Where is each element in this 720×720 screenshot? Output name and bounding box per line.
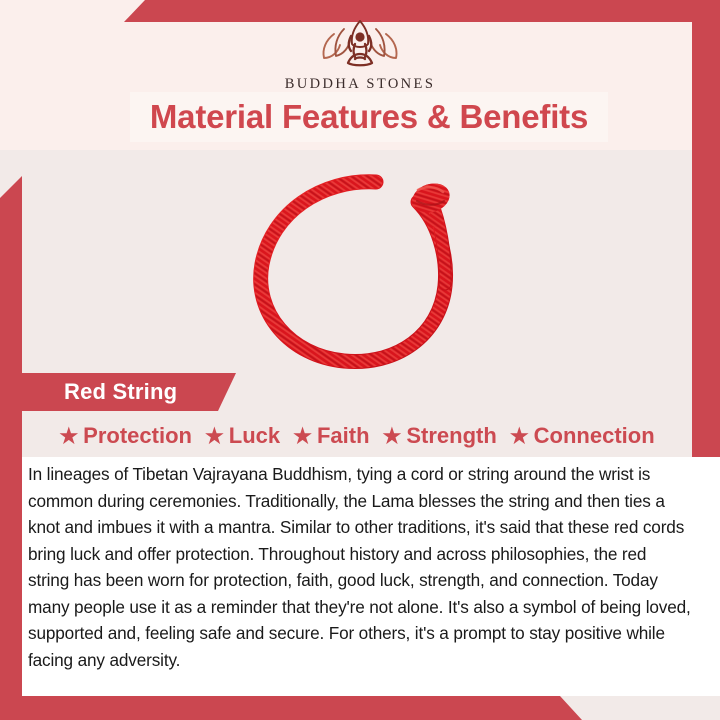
star-icon: ★	[510, 426, 529, 447]
star-icon: ★	[59, 426, 78, 447]
product-name-label: Red String	[64, 379, 177, 405]
title-banner: Material Features & Benefits	[130, 92, 608, 142]
feature-item-strength: ★ Strength	[383, 423, 497, 449]
feature-label: Protection	[83, 423, 192, 449]
star-icon: ★	[383, 426, 402, 447]
feature-item-connection: ★ Connection	[510, 423, 655, 449]
page-title: Material Features & Benefits	[150, 98, 588, 136]
star-icon: ★	[293, 426, 312, 447]
feature-label: Strength	[406, 423, 496, 449]
feature-label: Connection	[534, 423, 655, 449]
product-name-ribbon: Red String	[22, 373, 236, 411]
description-text: In lineages of Tibetan Vajrayana Buddhis…	[28, 461, 692, 673]
star-icon: ★	[205, 426, 224, 447]
frame-bar-left	[0, 176, 22, 720]
description-panel: In lineages of Tibetan Vajrayana Buddhis…	[22, 457, 720, 696]
product-info-poster: BUDDHA STONES Material Features & Benefi…	[0, 0, 720, 720]
lotus-meditation-icon	[304, 18, 416, 72]
feature-label: Faith	[317, 423, 370, 449]
brand-name: BUDDHA STONES	[0, 76, 720, 93]
feature-list: ★ Protection ★ Luck ★ Faith ★ Strength ★…	[22, 416, 692, 456]
product-image-area	[22, 152, 692, 374]
feature-label: Luck	[229, 423, 280, 449]
feature-item-luck: ★ Luck	[205, 423, 280, 449]
feature-item-protection: ★ Protection	[59, 423, 192, 449]
feature-item-faith: ★ Faith	[293, 423, 369, 449]
brand-logo: BUDDHA STONES	[0, 18, 720, 93]
red-braided-string-bracelet	[226, 160, 488, 378]
